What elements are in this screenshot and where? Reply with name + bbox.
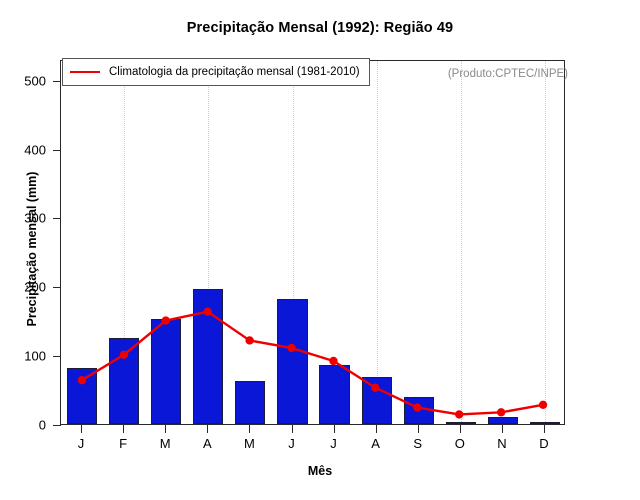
climatology-marker-a-7: [371, 384, 379, 392]
x-tick-mark: [418, 425, 419, 433]
x-tick-mark: [502, 425, 503, 433]
chart-figure: Precipitação Mensal (1992): Região 49 Pr…: [0, 0, 640, 500]
climatology-marker-o-9: [455, 410, 463, 418]
climatology-marker-m-4: [245, 336, 253, 344]
plot-inner: [61, 61, 564, 424]
x-tick-label-j-5: J: [272, 436, 312, 451]
y-tick-label: 100: [4, 349, 46, 364]
x-tick-label-s-8: S: [398, 436, 438, 451]
x-tick-label-f-1: F: [103, 436, 143, 451]
x-tick-mark: [292, 425, 293, 433]
x-tick-label-j-0: J: [61, 436, 101, 451]
x-tick-label-m-2: M: [145, 436, 185, 451]
x-tick-mark: [123, 425, 124, 433]
y-axis-title: Precipitação mensal (mm): [25, 119, 39, 379]
climatology-marker-j-5: [287, 344, 295, 352]
y-tick-label: 0: [4, 418, 46, 433]
x-tick-label-n-10: N: [482, 436, 522, 451]
climatology-marker-j-0: [78, 376, 86, 384]
climatology-marker-n-10: [497, 408, 505, 416]
climatology-marker-a-3: [204, 308, 212, 316]
x-tick-label-a-7: A: [356, 436, 396, 451]
x-tick-label-m-4: M: [229, 436, 269, 451]
climatology-marker-f-1: [120, 351, 128, 359]
y-tick-label: 500: [4, 73, 46, 88]
climatology-marker-d-11: [539, 401, 547, 409]
y-tick-label: 400: [4, 142, 46, 157]
x-tick-mark: [207, 425, 208, 433]
x-axis-title: Mês: [0, 464, 640, 478]
legend-label-climatologia: Climatologia da precipitação mensal (198…: [109, 66, 360, 78]
x-tick-label-d-11: D: [524, 436, 564, 451]
x-tick-mark: [249, 425, 250, 433]
climatology-line-series: [61, 61, 564, 424]
x-tick-mark: [544, 425, 545, 433]
x-tick-label-j-6: J: [314, 436, 354, 451]
x-tick-mark: [460, 425, 461, 433]
x-tick-label-o-9: O: [440, 436, 480, 451]
legend-line-swatch-climatologia: [70, 71, 100, 73]
product-annotation: (Produto:CPTEC/INPE): [448, 68, 568, 80]
plot-area: [60, 60, 565, 425]
y-tick-label: 200: [4, 280, 46, 295]
x-tick-mark: [334, 425, 335, 433]
climatology-marker-m-2: [162, 316, 170, 324]
x-tick-mark: [376, 425, 377, 433]
y-tick-mark: [53, 425, 61, 426]
legend: Climatologia da precipitação mensal (198…: [62, 58, 370, 86]
climatology-marker-j-6: [329, 357, 337, 365]
chart-title: Precipitação Mensal (1992): Região 49: [0, 20, 640, 36]
climatology-polyline: [82, 312, 543, 415]
x-tick-mark: [165, 425, 166, 433]
x-tick-label-a-3: A: [187, 436, 227, 451]
x-tick-mark: [81, 425, 82, 433]
climatology-marker-s-8: [413, 403, 421, 411]
y-tick-label: 300: [4, 211, 46, 226]
